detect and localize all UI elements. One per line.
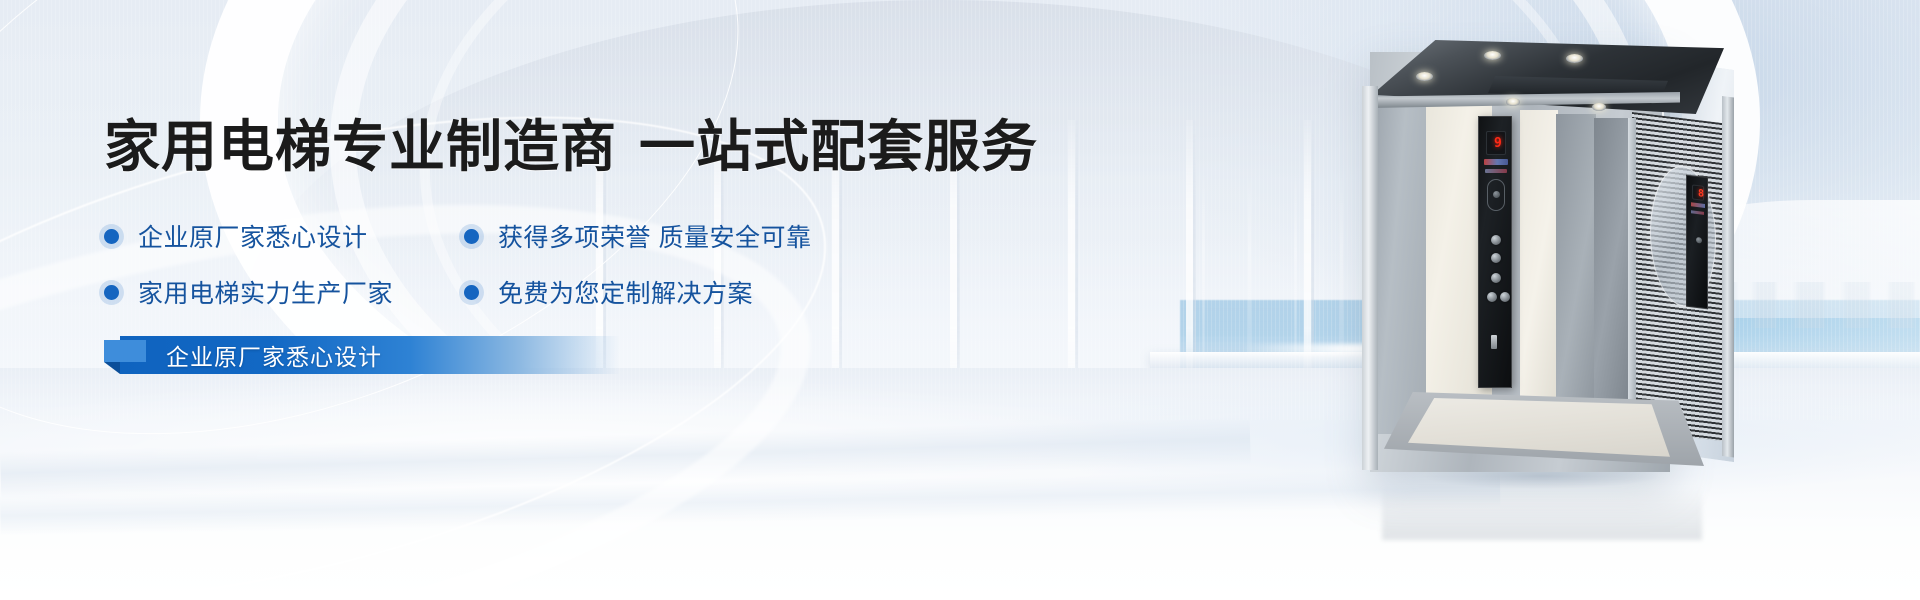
list-item: 获得多项荣誉 质量安全可靠 — [464, 218, 824, 254]
feature-label: 获得多项荣誉 质量安全可靠 — [498, 218, 811, 254]
headline-part-1: 家用电梯专业制造商 — [104, 115, 617, 178]
feature-label: 免费为您定制解决方案 — [498, 274, 753, 310]
door-close-button — [1500, 292, 1510, 302]
list-item: 免费为您定制解决方案 — [464, 274, 824, 310]
cab-wall-left — [1372, 94, 1430, 434]
banner-content: 家用电梯专业制造商一站式配套服务 企业原厂家悉心设计 获得多项荣誉 质量安全可靠… — [0, 0, 1100, 600]
floor-indicator-screen-mirrored: 8 — [1692, 184, 1704, 200]
ceiling-downlight-3 — [1566, 54, 1583, 63]
feature-label: 企业原厂家悉心设计 — [138, 218, 368, 254]
panel-card-slot — [1491, 335, 1497, 349]
panel-logo — [1484, 159, 1508, 165]
door-open-button — [1487, 292, 1497, 302]
panel-logo-mirrored — [1691, 202, 1705, 208]
cab-control-panel: 9 — [1478, 116, 1512, 388]
panel-key-mirrored — [1696, 237, 1702, 244]
bullet-dot-icon — [104, 285, 119, 300]
bullet-dot-icon — [464, 285, 479, 300]
floor-button-2 — [1491, 253, 1501, 263]
cab-control-panel-mirrored: 8 — [1686, 175, 1708, 310]
cab-panel-grey-2 — [1594, 118, 1632, 418]
list-item: 企业原厂家悉心设计 — [104, 218, 464, 254]
ribbon-fold-icon — [104, 362, 120, 374]
cab-corner-edge — [1628, 118, 1636, 418]
page-title: 家用电梯专业制造商一站式配套服务 — [104, 112, 1038, 182]
list-item: 家用电梯实力生产厂家 — [104, 274, 464, 310]
cab-panel-grey-1 — [1556, 114, 1596, 426]
floor-button-1 — [1491, 235, 1501, 245]
feature-label: 家用电梯实力生产厂家 — [138, 274, 393, 310]
floor-button-3 — [1491, 273, 1501, 283]
floor-indicator-screen: 9 — [1486, 131, 1506, 155]
promo-banner: 8 9 — [0, 0, 1920, 600]
ribbon-bar: 企业原厂家悉心设计 — [120, 336, 620, 374]
panel-logo-sub — [1485, 169, 1507, 173]
home-elevator-cab-image: 8 9 — [1370, 40, 1790, 500]
floor-number-mirrored: 8 — [1698, 188, 1704, 200]
ceiling-downlight-5 — [1592, 103, 1606, 111]
feature-list: 企业原厂家悉心设计 获得多项荣誉 质量安全可靠 家用电梯实力生产厂家 免费为您定… — [104, 208, 1004, 320]
highlight-ribbon: 企业原厂家悉心设计 — [104, 336, 664, 382]
panel-logo-sub-mirrored — [1691, 210, 1704, 215]
feature-row: 企业原厂家悉心设计 获得多项荣誉 质量安全可靠 — [104, 208, 1004, 264]
ribbon-label: 企业原厂家悉心设计 — [166, 338, 382, 372]
floor-number: 9 — [1494, 136, 1501, 151]
feature-row: 家用电梯实力生产厂家 免费为您定制解决方案 — [104, 264, 1004, 320]
ribbon-tab-icon — [104, 340, 146, 362]
ceiling-downlight-4 — [1506, 98, 1520, 106]
ceiling-downlight-2 — [1484, 51, 1501, 60]
headline-part-2: 一站式配套服务 — [639, 115, 1038, 178]
cab-rear-wall: 8 — [1632, 112, 1728, 442]
bullet-dot-icon — [464, 229, 479, 244]
panel-key-switch — [1493, 191, 1500, 198]
cab-pillar-right — [1722, 96, 1734, 457]
cab-pillar-left — [1362, 86, 1378, 470]
ceiling-downlight-1 — [1416, 72, 1433, 81]
cab-panel-cream-2 — [1520, 110, 1558, 428]
bullet-dot-icon — [104, 229, 119, 244]
